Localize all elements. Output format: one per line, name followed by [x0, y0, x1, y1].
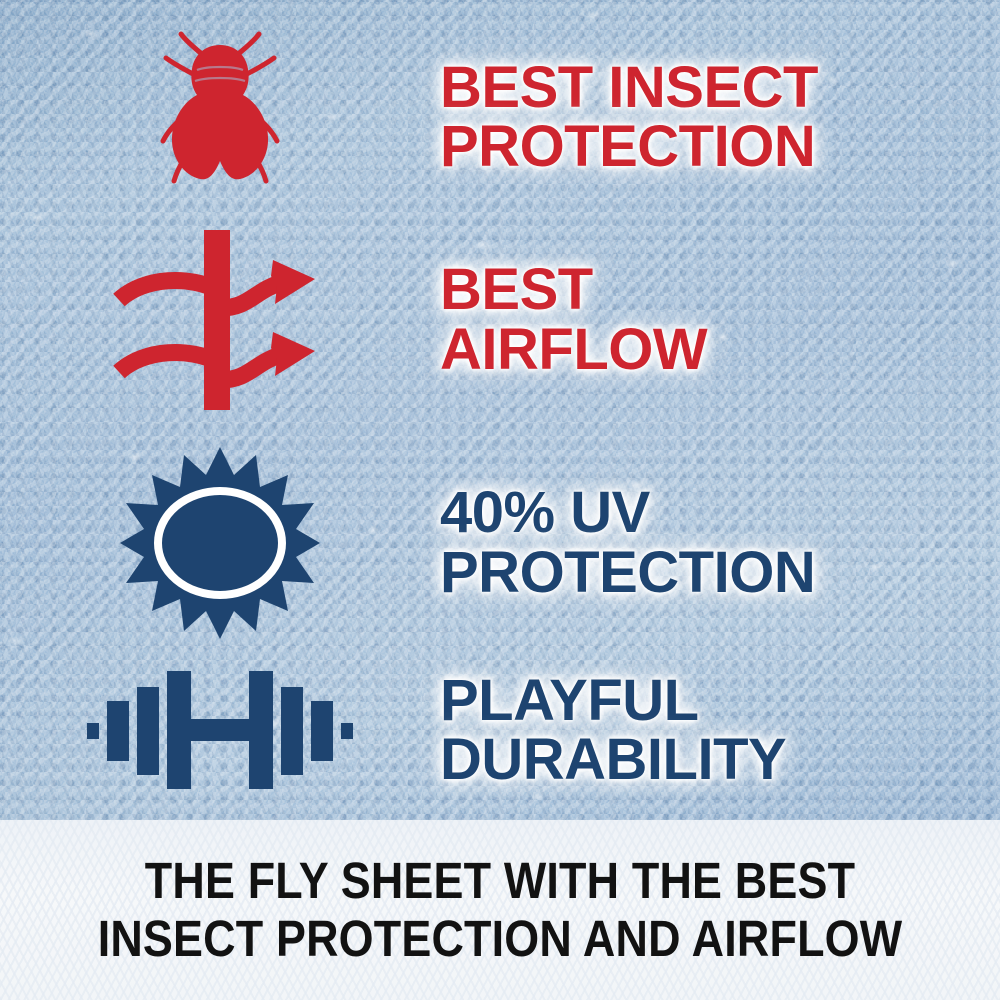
- airflow-arrows-icon: [105, 224, 335, 416]
- product-feature-poster: BEST INSECT PROTECTION: [0, 0, 1000, 1000]
- feature-icon-cell: [0, 665, 440, 795]
- feature-text-cell: PLAYFUL DURABILITY: [440, 671, 1000, 789]
- feature-label-insect-protection: BEST INSECT PROTECTION: [440, 58, 988, 176]
- feature-text-cell: BEST INSECT PROTECTION: [440, 58, 1000, 176]
- fly-icon: [145, 25, 295, 210]
- feature-label-uv-protection: 40% UV PROTECTION: [440, 483, 988, 601]
- feature-label-durability: PLAYFUL DURABILITY: [440, 671, 988, 789]
- caption-bar: THE FLY SHEET WITH THE BEST INSECT PROTE…: [0, 820, 1000, 1000]
- feature-row-airflow: BEST AIRFLOW: [0, 222, 1000, 417]
- feature-row-durability: PLAYFUL DURABILITY: [0, 650, 1000, 810]
- feature-icon-cell: [0, 224, 440, 416]
- feature-row-uv-protection: 40% UV PROTECTION: [0, 440, 1000, 645]
- dumbbell-icon: [87, 665, 353, 795]
- caption-headline: THE FLY SHEET WITH THE BEST INSECT PROTE…: [78, 852, 923, 968]
- feature-row-insect-protection: BEST INSECT PROTECTION: [0, 22, 1000, 212]
- feature-text-cell: BEST AIRFLOW: [440, 260, 1000, 378]
- feature-icon-cell: [0, 445, 440, 641]
- feature-icon-cell: [0, 25, 440, 210]
- sun-burst-icon: [120, 445, 320, 641]
- feature-label-airflow: BEST AIRFLOW: [440, 260, 988, 378]
- feature-text-cell: 40% UV PROTECTION: [440, 483, 1000, 601]
